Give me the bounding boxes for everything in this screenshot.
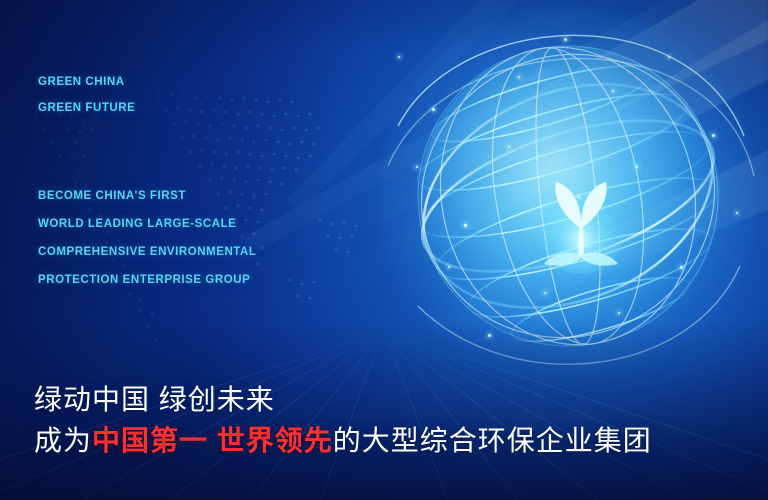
chinese-statement-prefix: 成为 — [34, 425, 92, 456]
english-statement-line-3: COMPREHENSIVE ENVIRONMENTAL — [38, 238, 378, 266]
english-statement-line-4: PROTECTION ENTERPRISE GROUP — [38, 266, 378, 294]
banner-image: GREEN CHINA GREEN FUTURE BECOME CHINA'S … — [0, 0, 768, 500]
chinese-headline-block: 绿动中国 绿创未来 成为中国第一 世界领先的大型综合环保企业集团 — [34, 380, 754, 462]
chinese-tagline: 绿动中国 绿创未来 — [34, 380, 754, 420]
english-statement-line-2: WORLD LEADING LARGE-SCALE — [38, 210, 378, 238]
chinese-statement-suffix: 的大型综合环保企业集团 — [333, 425, 652, 456]
chinese-statement-highlight: 中国第一 世界领先 — [92, 425, 333, 456]
english-tagline-line-2: GREEN FUTURE — [38, 95, 358, 121]
english-statement-block: BECOME CHINA'S FIRST WORLD LEADING LARGE… — [38, 182, 378, 294]
english-tagline-line-1: GREEN CHINA — [38, 69, 358, 95]
chinese-statement: 成为中国第一 世界领先的大型综合环保企业集团 — [34, 420, 754, 462]
english-tagline-block: GREEN CHINA GREEN FUTURE — [38, 69, 358, 121]
english-statement-line-1: BECOME CHINA'S FIRST — [38, 182, 378, 210]
